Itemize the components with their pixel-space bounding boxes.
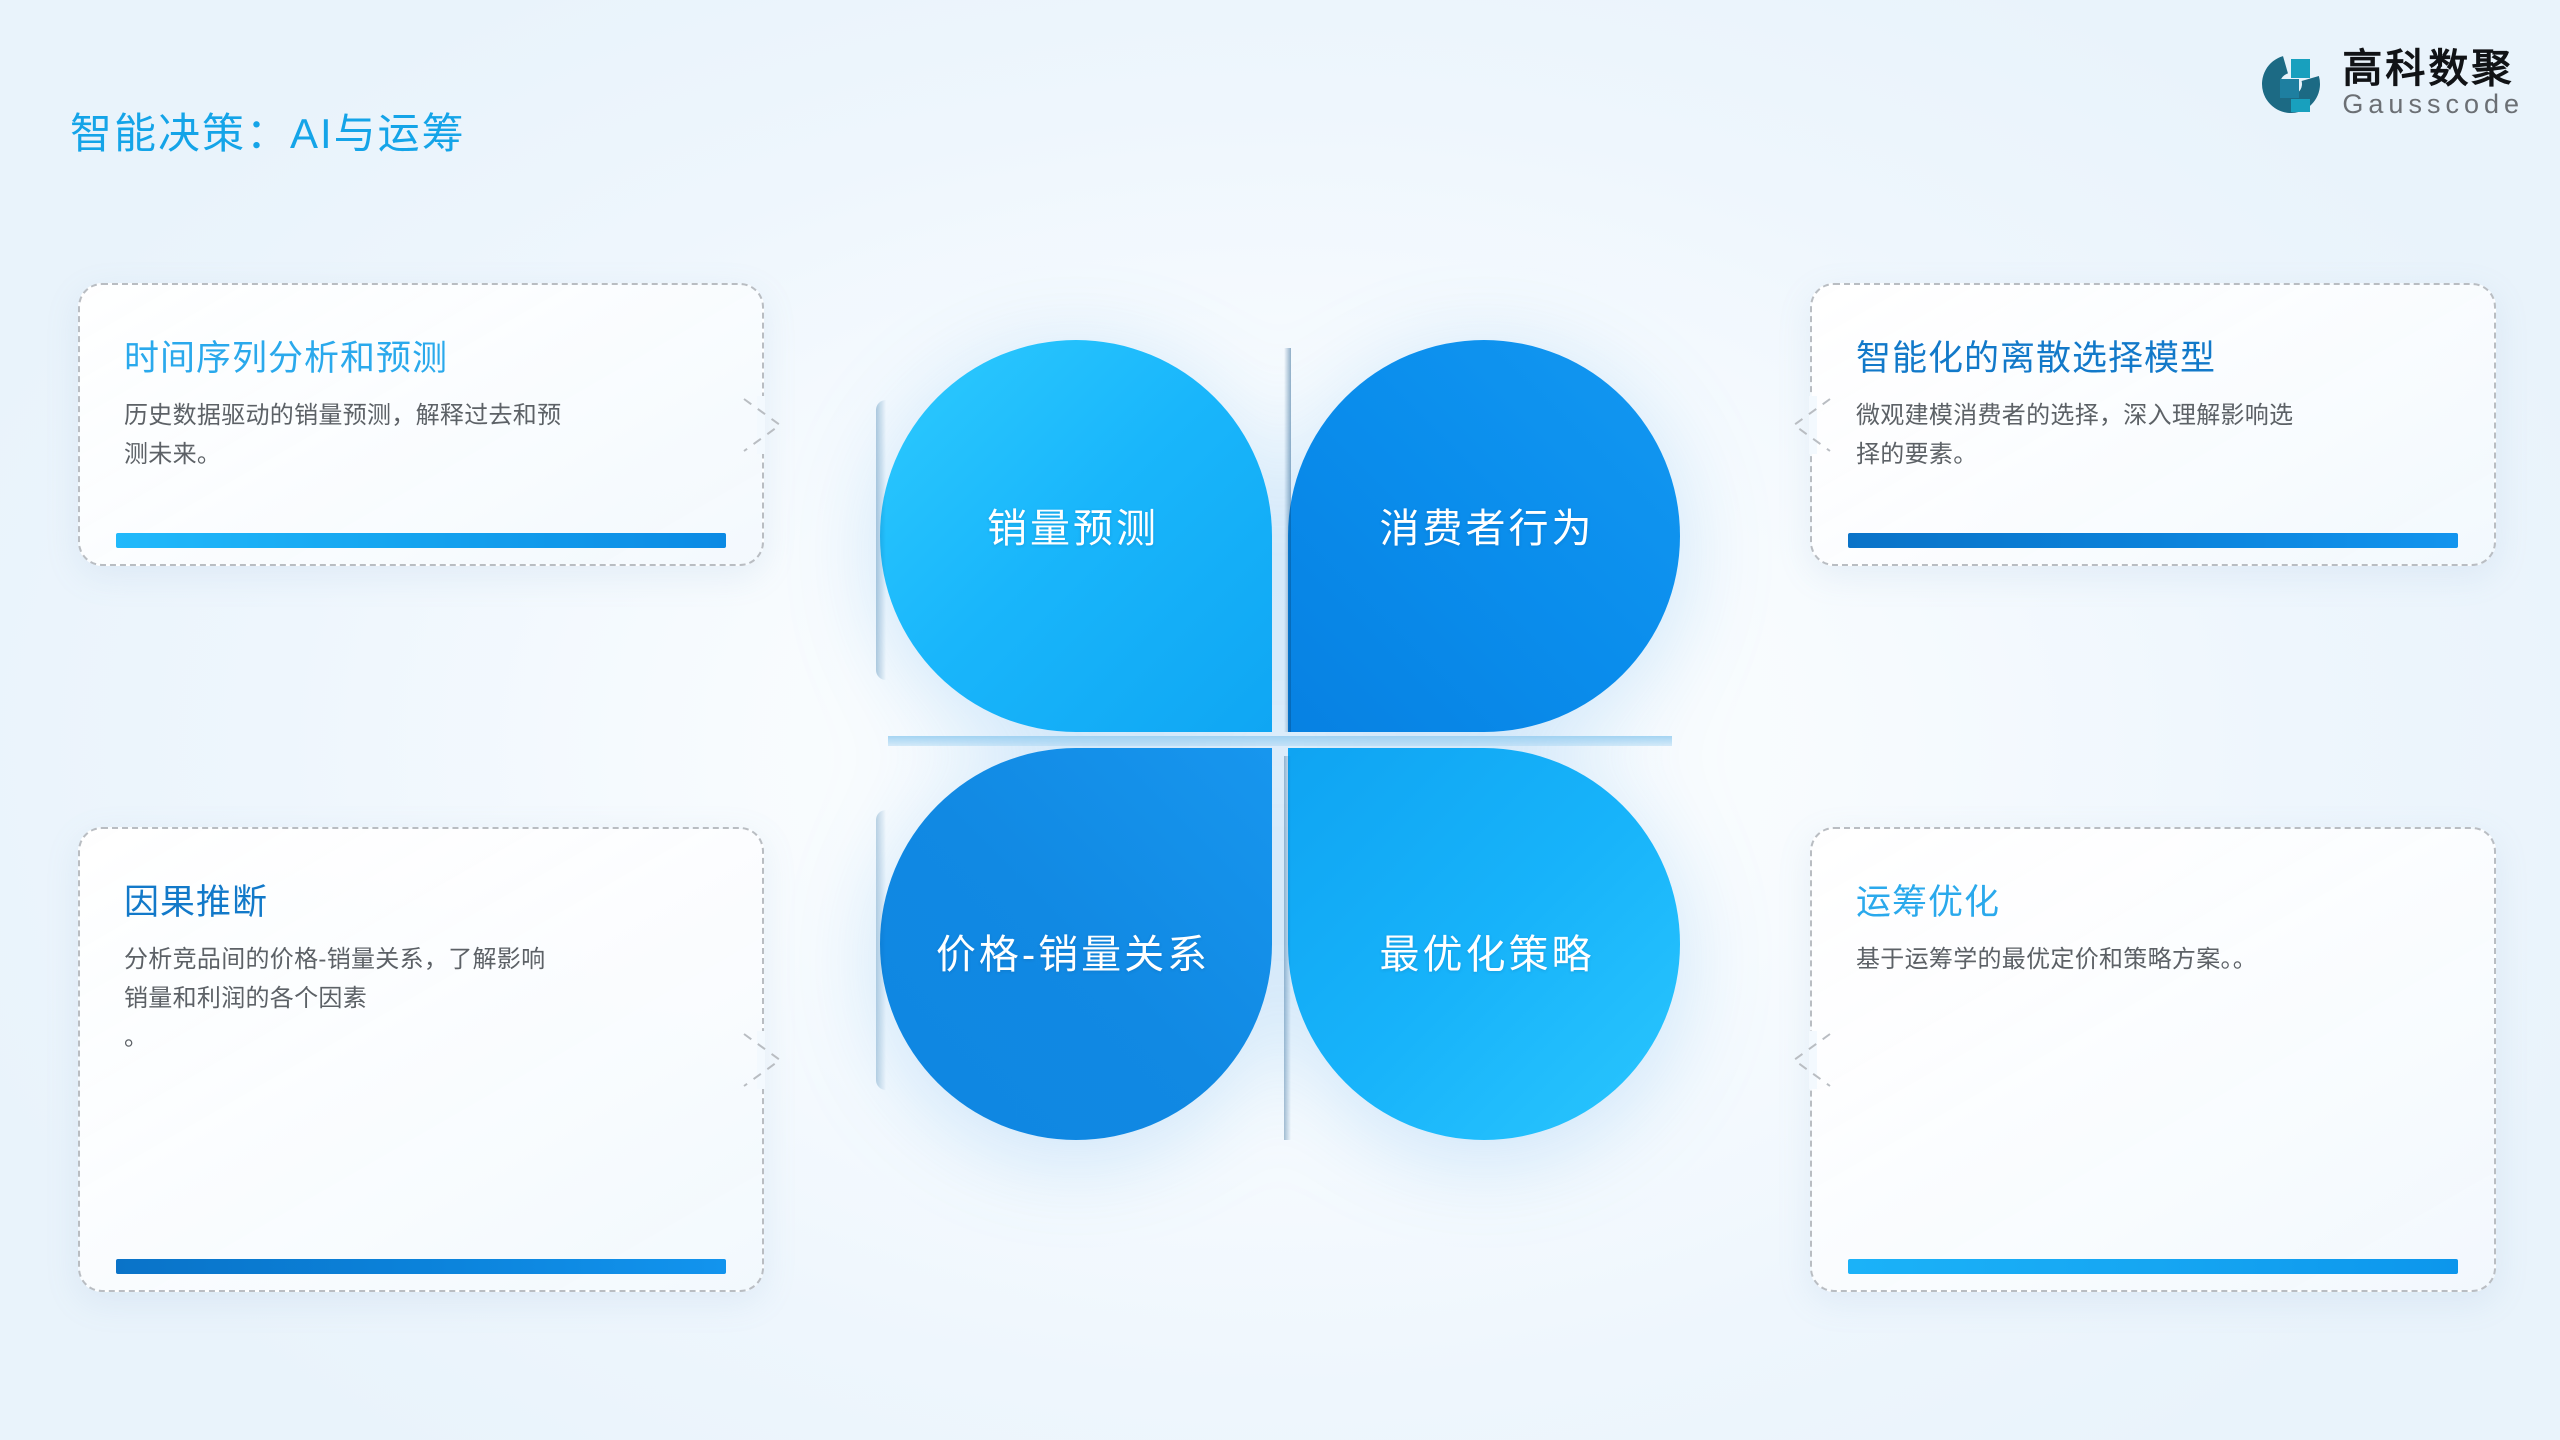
connector-chevron-icon [1788,393,1834,457]
petal-consumer-behavior[interactable]: 消费者行为 [1288,340,1680,732]
petal-price-volume[interactable]: 价格-销量关系 [880,748,1272,1140]
petal-label: 消费者行为 [1288,340,1680,732]
petal-label: 价格-销量关系 [880,748,1272,1140]
brand-logo: 高科数聚 Gausscode [2258,48,2524,120]
card-body: 基于运筹学的最优定价和策略方案。。 [1856,941,2450,980]
info-card-operations-optimization[interactable]: 运筹优化 基于运筹学的最优定价和策略方案。。 [1810,827,2496,1292]
info-card-time-series[interactable]: 时间序列分析和预测 历史数据驱动的销量预测，解释过去和预 测未来。 [78,283,764,566]
connector-chevron-icon [740,1028,786,1092]
card-title: 运筹优化 [1856,881,2450,925]
card-accent-bar [1848,1259,2458,1274]
card-accent-bar [1848,533,2458,548]
card-title: 智能化的离散选择模型 [1856,337,2450,381]
petal-optimal-strategy[interactable]: 最优化策略 [1288,748,1680,1140]
logo-wordmark: 高科数聚 Gausscode [2342,48,2524,120]
connector-chevron-icon [740,393,786,457]
logo-english-name: Gausscode [2342,90,2524,120]
petal-label: 销量预测 [880,340,1272,732]
info-card-causal-inference[interactable]: 因果推断 分析竞品间的价格-销量关系，了解影响 销量和利润的各个因素 。 [78,827,764,1292]
connector-chevron-icon [1788,1028,1834,1092]
card-accent-bar [116,533,726,548]
petal-center-edge-horizontal [888,736,1672,746]
gausscode-logo-icon [2258,51,2324,117]
card-body: 分析竞品间的价格-销量关系，了解影响 销量和利润的各个因素 。 [124,941,718,1058]
card-title: 因果推断 [124,881,718,925]
page-title: 智能决策：AI与运筹 [70,100,466,161]
card-body: 历史数据驱动的销量预测，解释过去和预 测未来。 [124,397,718,475]
petal-sales-forecast[interactable]: 销量预测 [880,340,1272,732]
card-body: 微观建模消费者的选择，深入理解影响选 择的要素。 [1856,397,2450,475]
logo-chinese-name: 高科数聚 [2342,48,2524,90]
clover-diagram: 销量预测 消费者行为 价格-销量关系 最优化策略 [880,340,1680,1140]
info-card-discrete-choice[interactable]: 智能化的离散选择模型 微观建模消费者的选择，深入理解影响选 择的要素。 [1810,283,2496,566]
petal-label: 最优化策略 [1288,748,1680,1140]
card-title: 时间序列分析和预测 [124,337,718,381]
card-accent-bar [116,1259,726,1274]
page-header: 智能决策：AI与运筹 高科数聚 Gausscode [0,0,2560,180]
